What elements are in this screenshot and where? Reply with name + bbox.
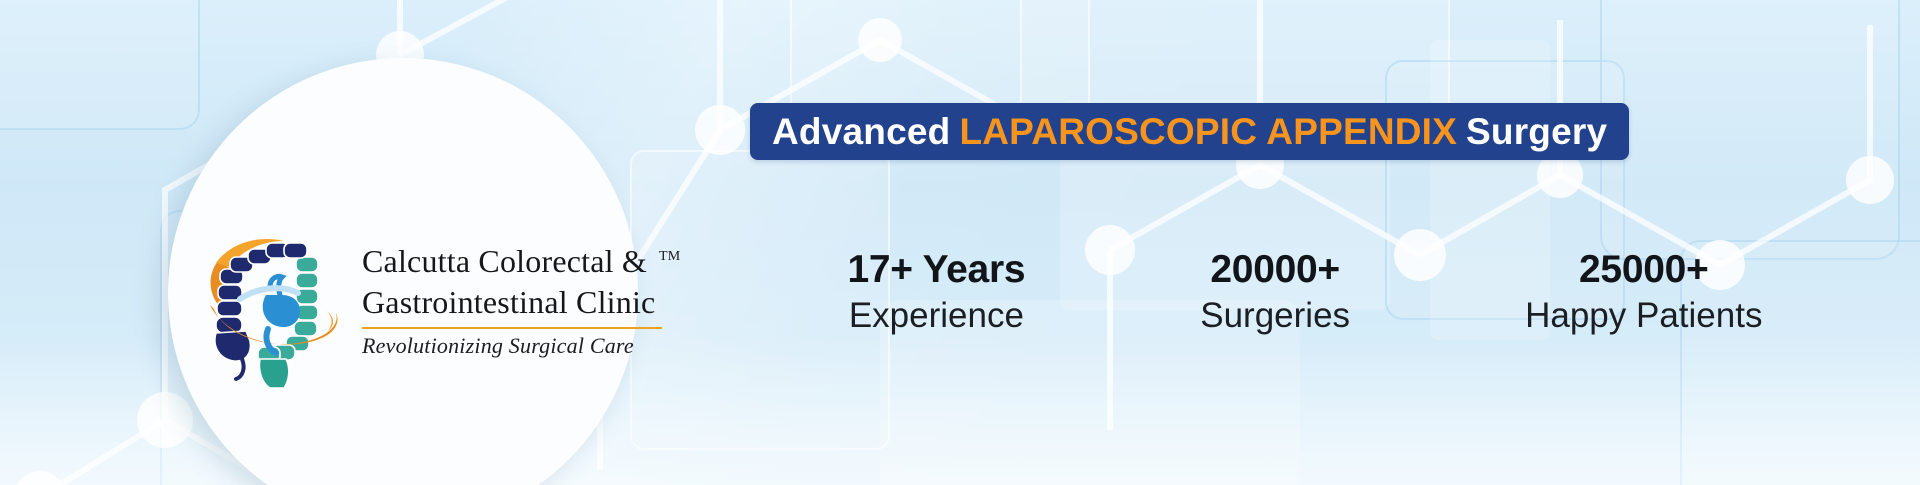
headline-highlight: LAPAROSCOPIC APPENDIX — [959, 113, 1457, 150]
stat-label: Experience — [848, 295, 1026, 337]
stat-number: 20000+ — [1200, 248, 1350, 292]
headline-prefix: Advanced — [772, 113, 950, 150]
stat-label: Surgeries — [1200, 295, 1350, 337]
logo-line-2: Gastrointestinal Clinic — [362, 282, 680, 323]
stat-item-happy-patients: 25000+ Happy Patients — [1525, 248, 1762, 337]
logo-line-1: Calcutta Colorectal &TM — [362, 241, 680, 282]
stat-item-experience: 17+ Years Experience — [848, 248, 1026, 337]
stat-label: Happy Patients — [1525, 295, 1762, 337]
trademark-symbol: TM — [659, 249, 680, 264]
stat-item-surgeries: 20000+ Surgeries — [1200, 248, 1350, 337]
logo-line-1-text: Calcutta Colorectal & — [362, 243, 647, 279]
headline-suffix: Surgery — [1466, 113, 1607, 150]
hero-banner: Calcutta Colorectal &TM Gastrointestinal… — [0, 0, 1920, 485]
stats-row: 17+ Years Experience 20000+ Surgeries 25… — [760, 248, 1850, 337]
stat-number: 25000+ — [1525, 248, 1762, 292]
stat-number: 17+ Years — [848, 248, 1026, 292]
colon-gastrointestinal-icon — [200, 213, 350, 388]
logo-divider — [362, 327, 662, 329]
logo-tagline: Revolutionizing Surgical Care — [362, 333, 680, 359]
headline-ribbon: AdvancedLAPAROSCOPIC APPENDIXSurgery — [750, 103, 1629, 160]
clinic-logo[interactable]: Calcutta Colorectal &TM Gastrointestinal… — [200, 205, 760, 395]
logo-wordmark: Calcutta Colorectal &TM Gastrointestinal… — [362, 241, 680, 360]
